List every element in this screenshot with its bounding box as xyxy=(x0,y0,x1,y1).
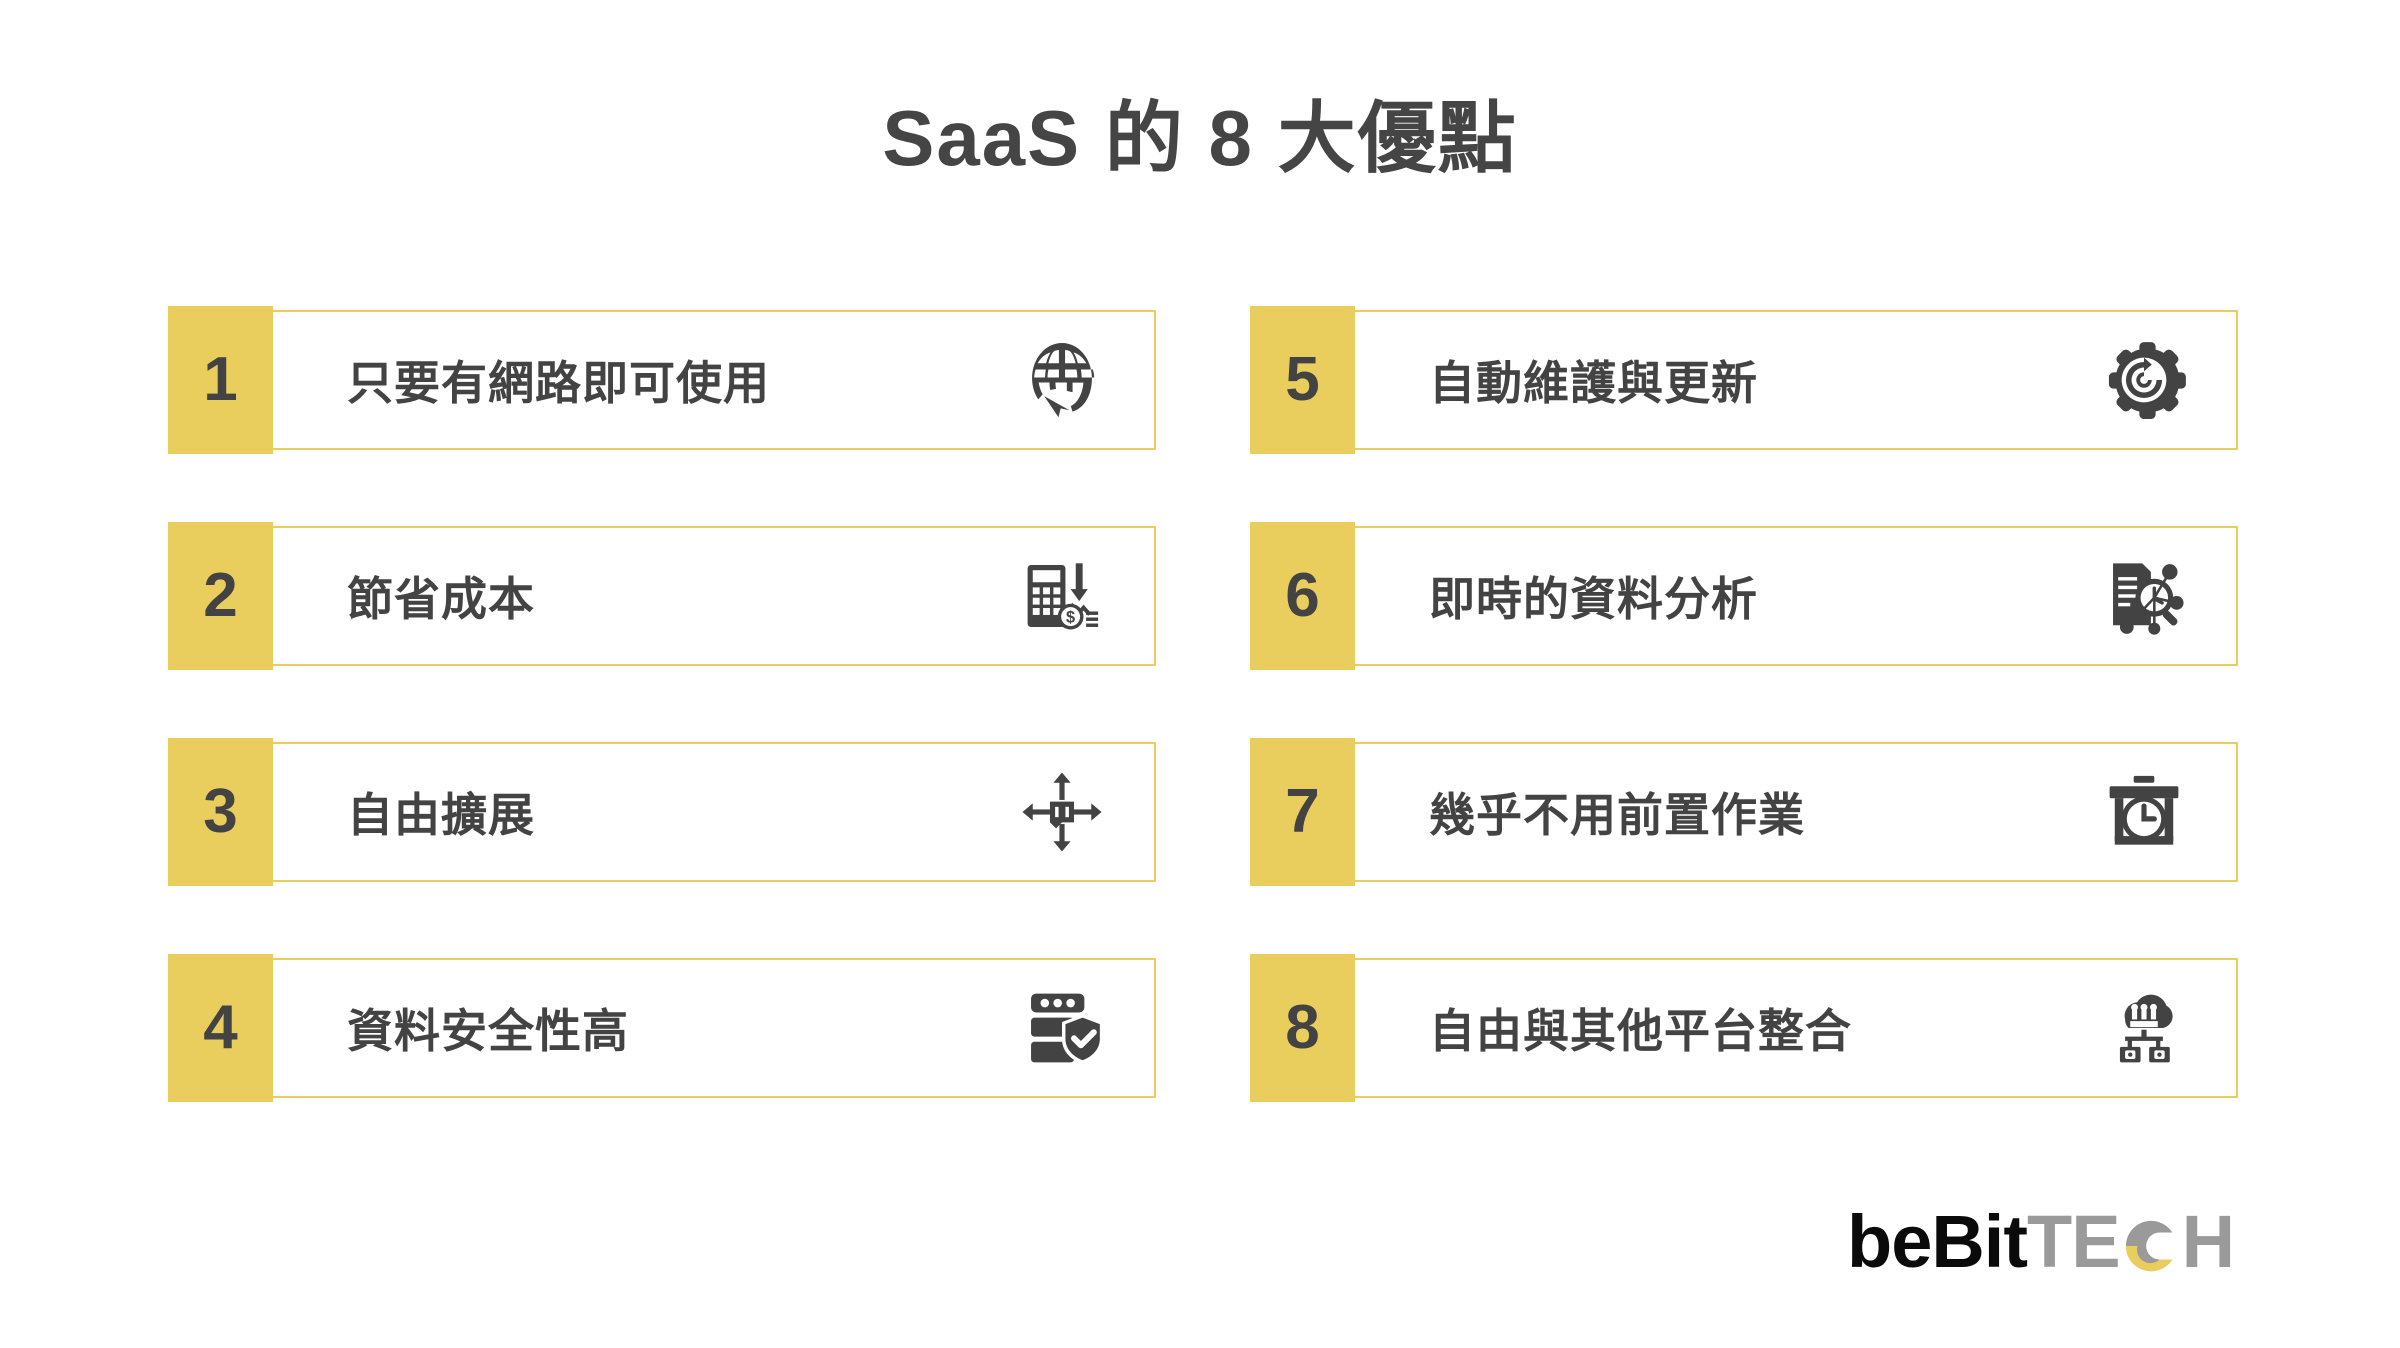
benefit-label-2: 節省成本 xyxy=(347,563,535,629)
benefit-number-6: 6 xyxy=(1285,565,1319,627)
benefit-number-block-4: 4 xyxy=(168,954,273,1102)
benefit-card-4[interactable]: 4 資料安全性高 xyxy=(168,958,1156,1098)
benefit-card-8[interactable]: 8 自由與其他平台整合 xyxy=(1250,958,2238,1098)
benefit-body-6: 即時的資料分析 xyxy=(1355,526,2238,666)
benefit-number-block-2: 2 xyxy=(168,522,273,670)
benefit-body-2: 節省成本 xyxy=(273,526,1156,666)
benefit-number-block-5: 5 xyxy=(1250,306,1355,454)
svg-text:$: $ xyxy=(1066,609,1075,627)
benefit-number-5: 5 xyxy=(1285,349,1319,411)
document-magnifier-analytics-icon xyxy=(2096,548,2192,644)
briefcase-clock-icon xyxy=(2096,764,2192,860)
globe-cursor-icon xyxy=(1014,332,1110,428)
benefit-body-7: 幾乎不用前置作業 xyxy=(1355,742,2238,882)
page-title: SaaS 的 8 大優點 xyxy=(0,96,2400,182)
logo-c-icon xyxy=(2122,1213,2180,1271)
benefit-label-8: 自由與其他平台整合 xyxy=(1429,995,1852,1061)
benefit-label-5: 自動維護與更新 xyxy=(1429,347,1758,413)
benefit-card-7[interactable]: 7 幾乎不用前置作業 xyxy=(1250,742,2238,882)
benefit-number-block-7: 7 xyxy=(1250,738,1355,886)
benefit-label-1: 只要有網路即可使用 xyxy=(347,347,770,413)
benefit-number-8: 8 xyxy=(1285,997,1319,1059)
logo-te-text: TE xyxy=(2027,1205,2120,1279)
benefit-number-1: 1 xyxy=(203,349,237,411)
server-shield-check-icon xyxy=(1014,980,1110,1076)
benefit-number-2: 2 xyxy=(203,565,237,627)
benefit-body-1: 只要有網路即可使用 xyxy=(273,310,1156,450)
benefit-number-block-8: 8 xyxy=(1250,954,1355,1102)
benefit-body-3: 自由擴展 xyxy=(273,742,1156,882)
benefit-card-2[interactable]: 2 節省成本 xyxy=(168,526,1156,666)
logo-h-text: H xyxy=(2182,1205,2234,1279)
benefit-card-6[interactable]: 6 即時的資料分析 xyxy=(1250,526,2238,666)
benefit-card-3[interactable]: 3 自由擴展 xyxy=(168,742,1156,882)
benefit-label-7: 幾乎不用前置作業 xyxy=(1429,779,1805,845)
gear-refresh-icon xyxy=(2096,332,2192,428)
benefit-number-block-3: 3 xyxy=(168,738,273,886)
benefits-grid: 1 只要有網路即可使用 5 自動維護與更新 xyxy=(168,310,2238,1098)
benefit-label-4: 資料安全性高 xyxy=(347,995,629,1061)
benefit-card-1[interactable]: 1 只要有網路即可使用 xyxy=(168,310,1156,450)
slide-root: SaaS 的 8 大優點 1 只要有網路即可使用 5 xyxy=(0,0,2400,1348)
bebit-tech-logo: beBit TE H xyxy=(1847,1205,2234,1279)
logo-bebit-text: beBit xyxy=(1847,1205,2027,1279)
benefit-body-5: 自動維護與更新 xyxy=(1355,310,2238,450)
expand-arrows-icon xyxy=(1014,764,1110,860)
benefit-body-4: 資料安全性高 xyxy=(273,958,1156,1098)
cloud-integration-icon xyxy=(2096,980,2192,1076)
benefit-number-block-1: 1 xyxy=(168,306,273,454)
benefit-number-block-6: 6 xyxy=(1250,522,1355,670)
benefit-number-3: 3 xyxy=(203,781,237,843)
benefit-number-4: 4 xyxy=(203,997,237,1059)
calculator-cost-down-icon: $ xyxy=(1014,548,1110,644)
benefit-number-7: 7 xyxy=(1285,781,1319,843)
benefit-body-8: 自由與其他平台整合 xyxy=(1355,958,2238,1098)
benefit-label-3: 自由擴展 xyxy=(347,779,535,845)
benefit-card-5[interactable]: 5 自動維護與更新 xyxy=(1250,310,2238,450)
benefit-label-6: 即時的資料分析 xyxy=(1429,563,1758,629)
